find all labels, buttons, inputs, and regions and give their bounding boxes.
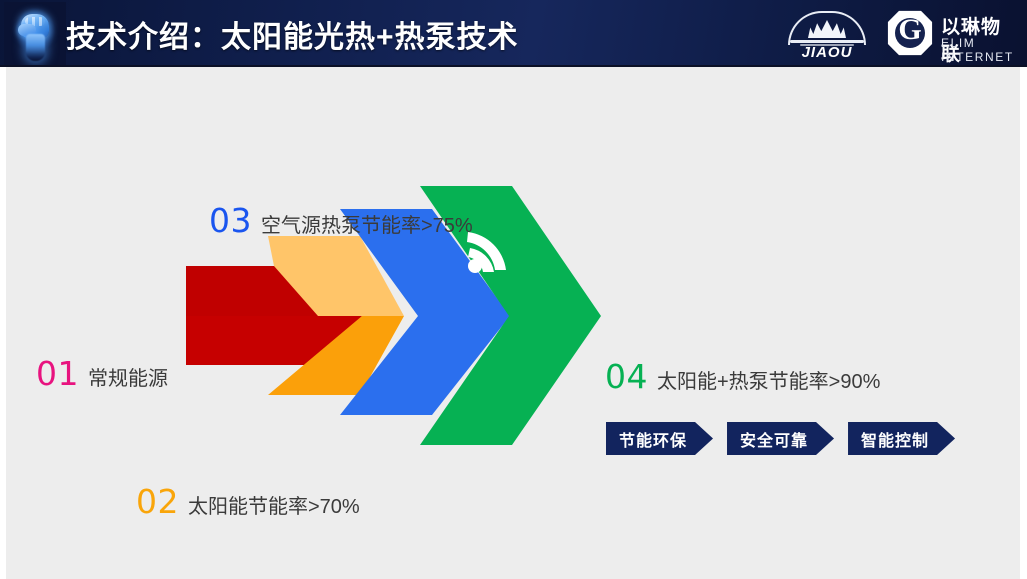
slide-header: 技术介绍：太阳能光热+热泵技术 JIAOU 以琳物联 ELIM INTERNET [0,0,1027,67]
logo-elim: 以琳物联 ELIM INTERNET [887,8,1017,58]
elim-g-icon [887,10,933,56]
step-number-04: 04 [605,357,648,396]
step-number-02: 02 [136,482,179,521]
slide-root: 技术介绍：太阳能光热+热泵技术 JIAOU 以琳物联 ELIM INTERNET [0,0,1027,579]
step-label-01: 01 常规能源 [36,354,168,393]
logo-jiaou: JIAOU [784,8,870,58]
step-text-02: 太阳能节能率>70% [188,490,360,519]
badge-energy-saving[interactable]: 节能环保 [606,422,713,455]
step-text-03: 空气源热泵节能率>75% [261,209,473,238]
logo-jiaou-wordmark: JIAOU [784,44,870,61]
step-label-02: 02 太阳能节能率>70% [136,482,360,521]
logo-elim-en: ELIM INTERNET [941,36,1017,64]
step-text-01: 常规能源 [88,362,168,391]
badge-label: 智能控制 [861,427,929,451]
feature-badge-group: 节能环保 安全可靠 智能控制 [606,422,955,455]
step-number-03: 03 [209,201,252,240]
badge-smart-control[interactable]: 智能控制 [848,422,955,455]
step-number-01: 01 [36,354,79,393]
step-text-04: 太阳能+热泵节能率>90% [657,365,880,394]
badge-label: 节能环保 [619,427,687,451]
badge-label: 安全可靠 [740,427,808,451]
fist-icon [4,2,66,65]
page-title: 技术介绍：太阳能光热+热泵技术 [66,12,519,56]
step-label-03: 03 空气源热泵节能率>75% [209,201,473,240]
step-label-04: 04 太阳能+热泵节能率>90% [605,357,880,396]
fist-wrist [26,34,45,61]
badge-safe-reliable[interactable]: 安全可靠 [727,422,834,455]
slide-body: 01 常规能源 02 太阳能节能率>70% 03 空气源热泵节能率>75% 04… [0,67,1027,579]
sunrise-icon-waterline [790,40,864,43]
